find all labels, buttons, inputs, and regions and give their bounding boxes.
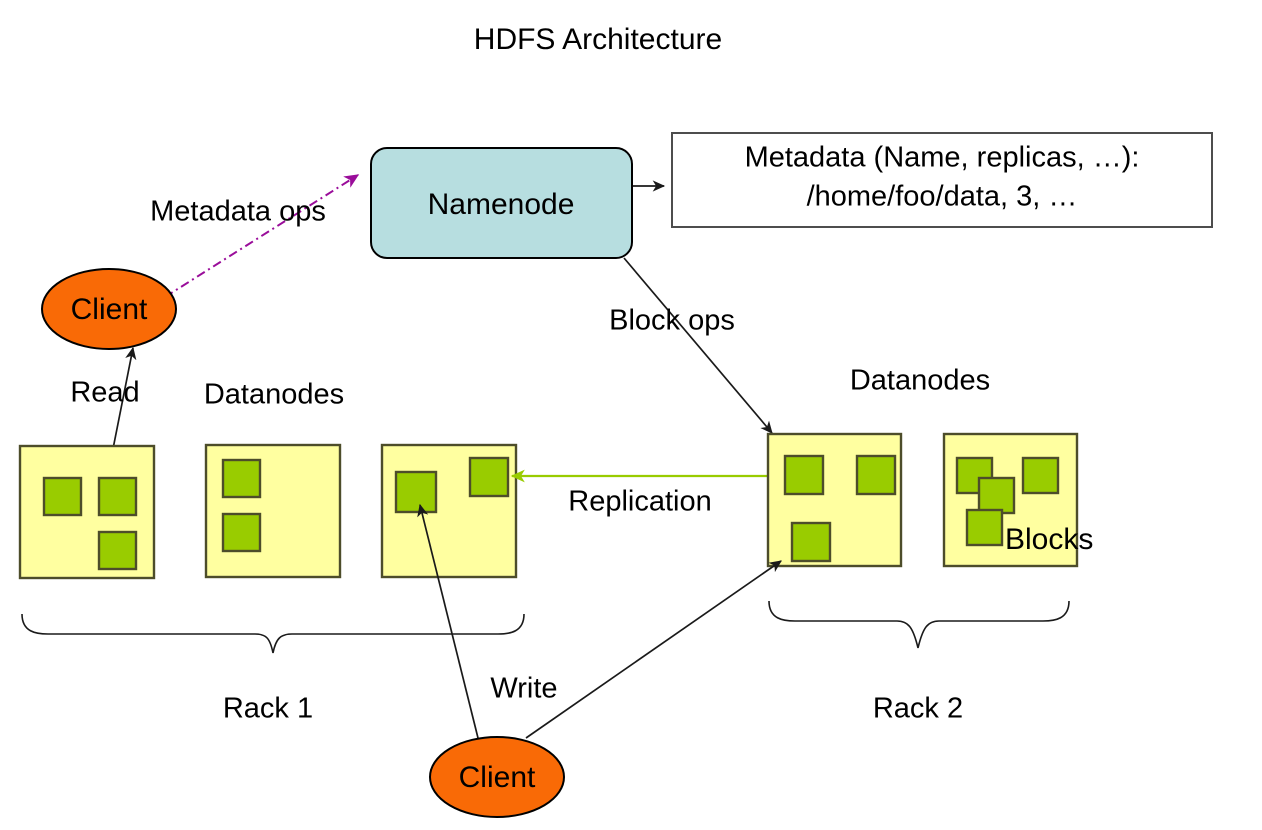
rack-2-label: Rack 2 xyxy=(873,693,963,725)
metadata-ops-label: Metadata ops xyxy=(150,196,326,228)
block-ops-label: Block ops xyxy=(609,305,735,337)
block xyxy=(223,514,260,551)
block xyxy=(44,478,81,515)
block xyxy=(99,532,136,569)
block xyxy=(967,510,1002,545)
block xyxy=(857,456,895,494)
client-write-label: Client xyxy=(459,761,536,794)
block xyxy=(785,456,823,494)
hdfs-architecture-diagram: HDFS Architecture Namenode Metadata (Nam… xyxy=(0,0,1262,830)
read-label: Read xyxy=(70,377,139,409)
diagram-canvas: HDFS Architecture Namenode Metadata (Nam… xyxy=(0,0,1262,830)
block xyxy=(99,478,136,515)
namenode-label: Namenode xyxy=(428,188,575,221)
write-label: Write xyxy=(490,673,557,705)
block xyxy=(470,458,508,496)
replication-label: Replication xyxy=(568,486,711,518)
rack-1-datanode-3[interactable] xyxy=(382,445,516,577)
datanode-box[interactable] xyxy=(768,434,901,566)
block xyxy=(1023,458,1058,493)
rack-1-datanode-2[interactable] xyxy=(206,445,340,577)
block-ops-arrow xyxy=(624,258,772,433)
block xyxy=(979,478,1014,513)
block xyxy=(792,523,830,561)
metadata-ops-arrow xyxy=(165,175,358,297)
block xyxy=(396,472,436,512)
blocks-label: Blocks xyxy=(1005,523,1093,556)
rack-1-datanode-1[interactable] xyxy=(20,446,154,578)
page-title: HDFS Architecture xyxy=(474,23,722,56)
rack-2-datanode-1[interactable] xyxy=(768,434,901,566)
rack-1-datanodes-label: Datanodes xyxy=(204,379,344,411)
metadata-line-1: Metadata (Name, replicas, …): xyxy=(745,142,1140,174)
rack-1-label: Rack 1 xyxy=(223,693,313,725)
rack-2-datanode-2[interactable]: Blocks xyxy=(944,434,1093,566)
rack-2-brace xyxy=(769,601,1069,648)
rack-2-datanodes-label: Datanodes xyxy=(850,365,990,397)
client-read-label: Client xyxy=(71,293,148,326)
block xyxy=(223,460,260,497)
write-arrow-remote xyxy=(526,561,781,738)
metadata-line-2: /home/foo/data, 3, … xyxy=(807,181,1078,213)
